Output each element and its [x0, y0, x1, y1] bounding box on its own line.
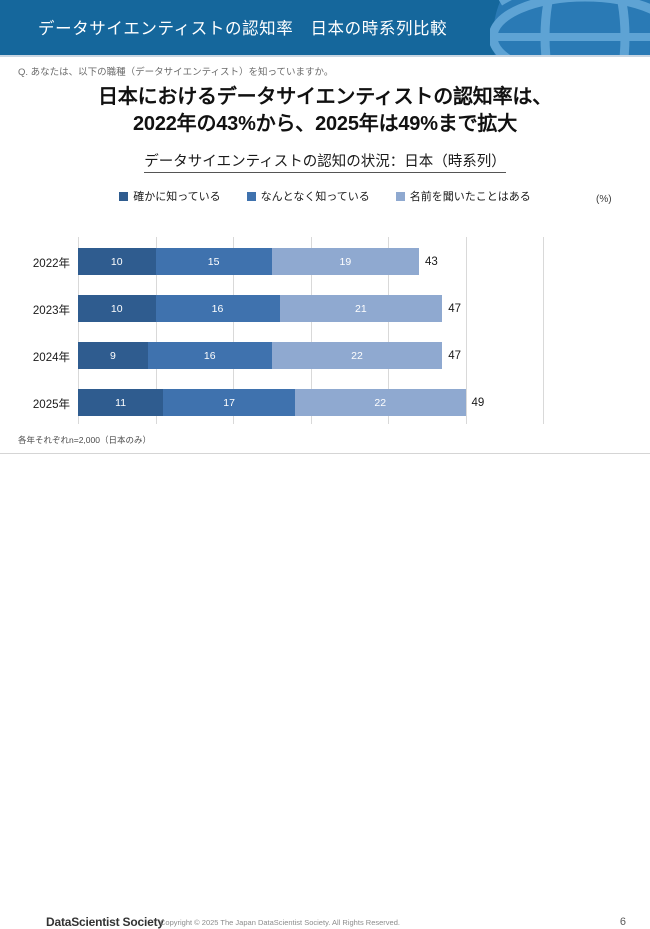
chart-plot-area: 0102030405060101519431016214791622471117…: [78, 237, 543, 424]
bar-segment-value: 10: [111, 303, 123, 315]
legend-swatch-icon: [396, 192, 405, 201]
bar-segment[interactable]: 16: [148, 342, 272, 369]
bar-segment-value: 9: [110, 350, 116, 362]
category-axis-labels: 2022年2023年2024年2025年: [0, 237, 70, 424]
header-band: データサイエンティストの認知率 日本の時系列比較: [0, 0, 650, 55]
legend-item[interactable]: 確かに知っている: [119, 188, 220, 204]
bar-segment[interactable]: 17: [163, 389, 295, 416]
bar-segment[interactable]: 19: [272, 248, 419, 275]
question-text: Q. あなたは、以下の職種（データサイエンティスト）を知っていますか。: [18, 64, 333, 78]
bar-segment[interactable]: 15: [156, 248, 272, 275]
category-label: 2023年: [33, 302, 70, 318]
bar-total-value: 49: [472, 397, 485, 409]
category-label: 2022年: [33, 255, 70, 271]
bar-segment-value: 19: [340, 256, 352, 268]
bar-segment-value: 11: [115, 397, 126, 409]
bar-segment-value: 10: [111, 256, 123, 268]
bar-segment-value: 17: [223, 397, 235, 409]
header-divider: [0, 55, 650, 57]
bar-segment[interactable]: 10: [78, 295, 156, 322]
chart-title: データサイエンティストの認知の状況：日本（時系列）: [0, 150, 650, 171]
bar-segment-value: 16: [212, 303, 224, 315]
bar-segment-value: 22: [374, 397, 386, 409]
bar-segment[interactable]: 21: [280, 295, 443, 322]
globe-watermark-icon: [490, 0, 650, 55]
bar-total-value: 47: [448, 350, 461, 362]
bar-segment[interactable]: 22: [272, 342, 443, 369]
bar-total-value: 47: [448, 303, 461, 315]
footer-bar: DataScientist Society Copyright © 2025 T…: [0, 454, 650, 488]
bar-segment-value: 16: [204, 350, 216, 362]
bar-segment-value: 15: [208, 256, 220, 268]
headline-line-1: 日本におけるデータサイエンティストの認知率は、: [98, 86, 552, 108]
bar-row[interactable]: 9162247: [78, 342, 442, 369]
chart-legend: 確かに知っているなんとなく知っている名前を聞いたことはある: [0, 188, 650, 204]
bar-segment-value: 21: [355, 303, 367, 315]
bar-segment-value: 22: [351, 350, 363, 362]
legend-label: なんとなく知っている: [261, 188, 370, 204]
footer-copyright: Copyright © 2025 The Japan DataScientist…: [160, 918, 400, 927]
chart-title-text: データサイエンティストの認知の状況：日本（時系列）: [144, 154, 505, 173]
bar-segment[interactable]: 16: [156, 295, 280, 322]
category-label: 2024年: [33, 349, 70, 365]
legend-label: 確かに知っている: [133, 188, 220, 204]
page-number: 6: [620, 916, 626, 928]
category-label: 2025年: [33, 396, 70, 412]
legend-item[interactable]: なんとなく知っている: [247, 188, 370, 204]
bar-row[interactable]: 11172249: [78, 389, 466, 416]
legend-label: 名前を聞いたことはある: [410, 188, 531, 204]
chart-gridline: [466, 237, 467, 424]
chart-footnote: 各年それぞれn=2,000（日本のみ）: [18, 434, 151, 446]
bar-segment[interactable]: 9: [78, 342, 148, 369]
bar-segment[interactable]: 10: [78, 248, 156, 275]
bar-segment[interactable]: 11: [78, 389, 163, 416]
bar-segment[interactable]: 22: [295, 389, 466, 416]
page-title: データサイエンティストの認知率 日本の時系列比較: [38, 15, 447, 39]
headline-line-2: 2022年の43%から、2025年は49%まで拡大: [0, 111, 650, 138]
footer-brand: DataScientist Society: [46, 915, 164, 929]
headline: 日本におけるデータサイエンティストの認知率は、 2022年の43%から、2025…: [0, 84, 650, 138]
chart-gridline: [543, 237, 544, 424]
legend-swatch-icon: [247, 192, 256, 201]
legend-item[interactable]: 名前を聞いたことはある: [396, 188, 531, 204]
bar-row[interactable]: 10151943: [78, 248, 419, 275]
legend-swatch-icon: [119, 192, 128, 201]
bar-row[interactable]: 10162147: [78, 295, 442, 322]
bar-total-value: 43: [425, 256, 438, 268]
axis-unit-label: (%): [596, 194, 612, 205]
